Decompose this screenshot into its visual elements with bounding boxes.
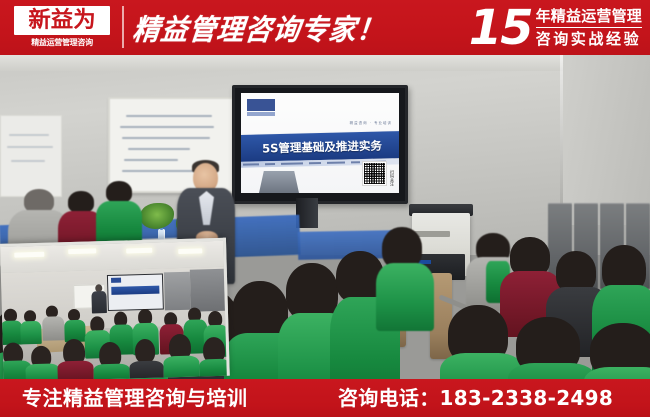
classroom-ceiling (0, 55, 650, 71)
logo-subtitle: 精益运营管理咨询 (14, 36, 110, 48)
promo-banner: 新益为 精益运营管理咨询 精益管理咨询专家！ 15 年精益运营管理 咨询实战经验 (0, 0, 650, 417)
slide-title-text: 5S管理基础及推进实务 (262, 137, 382, 156)
experience-line2: 咨询实战经验 (536, 28, 642, 49)
qr-note-text: 扫码关注 (389, 170, 395, 186)
presentation-screen: 精益咨询 · 专业培训 5S管理基础及推进实务 扫码关注 (232, 85, 408, 204)
logo-mark-text: 新益为 (28, 9, 95, 33)
header-slogan-text: 精益管理咨询专家！ (131, 7, 387, 48)
footer-tagline: 专注精益管理咨询与培训 (22, 387, 248, 409)
wall-corner (560, 55, 563, 205)
inset-slide-title-bar (111, 286, 159, 295)
training-photo: 精益咨询 · 专业培训 5S管理基础及推进实务 扫码关注 (0, 55, 650, 379)
slide-meta-text: 精益咨询 · 专业培训 (350, 121, 392, 126)
inset-slide-logo (111, 278, 121, 283)
ceiling-light (126, 248, 152, 254)
whiteboard-secondary (0, 115, 62, 197)
inset-cabinet (190, 269, 225, 312)
experience-badge: 15 年精益运营管理 咨询实战经验 (469, 0, 642, 55)
slide-logo-icon (247, 99, 275, 111)
footer-phone[interactable]: 咨询电话：183-2338-2498 (338, 387, 613, 409)
inset-presentation-screen (107, 273, 164, 311)
experience-text: 年精益运营管理 咨询实战经验 (536, 7, 642, 49)
ceiling-light (178, 248, 202, 254)
classroom-wall-right (563, 55, 650, 225)
ceiling-light (14, 252, 44, 258)
experience-number: 15 (469, 4, 532, 52)
company-logo[interactable]: 新益为 精益运营管理咨询 (14, 6, 110, 49)
inset-door (164, 272, 191, 311)
logo-mark: 新益为 (14, 6, 110, 35)
slide-title-bar: 5S管理基础及推进实务 (241, 131, 399, 162)
banner-footer: 专注精益管理咨询与培训 咨询电话：183-2338-2498 (0, 379, 650, 417)
slide: 精益咨询 · 专业培训 5S管理基础及推进实务 扫码关注 (241, 93, 399, 193)
logo-subtitle-text: 精益运营管理咨询 (31, 37, 93, 48)
experience-line1: 年精益运营管理 (536, 7, 642, 28)
header-slogan: 精益管理咨询专家！ (133, 5, 413, 50)
header-divider (122, 6, 124, 48)
slide-laptop-graphic (259, 171, 299, 193)
qr-code-icon (363, 162, 386, 185)
ceiling-light (68, 248, 96, 254)
inset-presenter-body (91, 291, 107, 313)
slide-logo-sub (247, 112, 275, 116)
inset-photo[interactable] (0, 238, 230, 379)
banner-header: 新益为 精益运营管理咨询 精益管理咨询专家！ 15 年精益运营管理 咨询实战经验 (0, 0, 650, 55)
